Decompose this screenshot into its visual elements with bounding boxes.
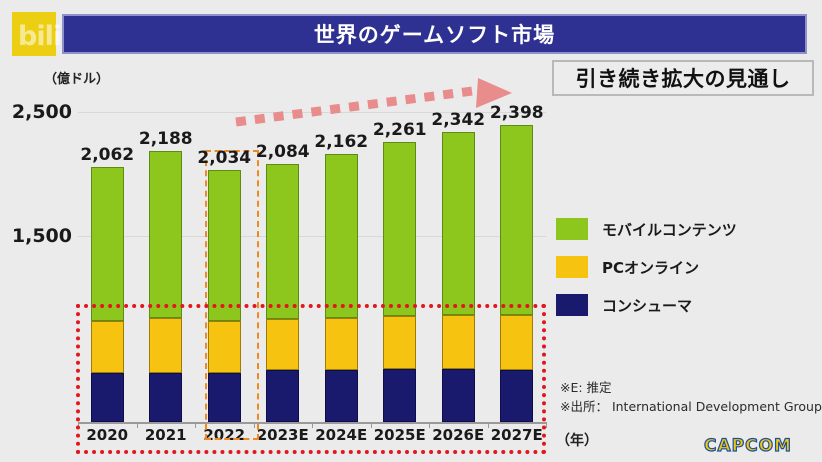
bar-segment-モバイルコンテンツ [442,132,475,316]
slide-title-bar: 世界のゲームソフト市場 [62,14,807,54]
chart-legend: モバイルコンテンツPCオンラインコンシューマ [556,210,806,324]
callout-box: 引き続き拡大の見通し [552,60,814,96]
legend-item-consumer: コンシューマ [556,286,806,324]
bar-value-label: 2,188 [136,129,196,149]
capcom-logo: CAPCOM [704,436,792,456]
legend-item-pc_online: PCオンライン [556,248,806,286]
bar-value-label: 2,398 [487,103,547,123]
bar-value-label: 2,342 [428,110,488,130]
callout-text: 引き続き拡大の見通し [576,63,791,93]
legend-swatch-pc_online [556,256,588,278]
legend-label-mobile: モバイルコンテンツ [602,219,737,240]
bar-segment-モバイルコンテンツ [383,142,416,316]
bilibili-watermark-square [12,12,56,56]
legend-swatch-consumer [556,294,588,316]
x-axis-unit-label: （年） [556,430,598,450]
bar-segment-モバイルコンテンツ [149,151,182,318]
legend-swatch-mobile [556,218,588,240]
legend-item-mobile: モバイルコンテンツ [556,210,806,248]
bar-segment-モバイルコンテンツ [325,154,358,318]
bar-value-label: 2,084 [253,142,313,162]
bar-value-label: 2,261 [370,120,430,140]
footnote-2: ※出所： International Development Group [560,397,820,416]
bar-segment-モバイルコンテンツ [266,164,299,319]
bar-segment-モバイルコンテンツ [500,125,533,315]
x-axis-tick [546,422,547,428]
slide-canvas: bilibili 直播 世界のゲームソフト市場 引き続き拡大の見通し （億ドル）… [0,0,822,462]
legend-label-pc_online: PCオンライン [602,257,699,278]
bar-value-label: 2,034 [194,148,254,168]
bar-value-label: 2,062 [77,145,137,165]
y-axis-labels: 2,5001,500 [0,100,72,422]
bar-value-label: 2,162 [311,132,371,152]
bar-segment-モバイルコンテンツ [91,167,124,321]
gridline [78,236,546,237]
legend-label-consumer: コンシューマ [602,295,692,316]
footnote-1: ※E: 推定 [560,378,820,397]
page-title: 世界のゲームソフト市場 [314,19,555,49]
y-axis-tick-label: 1,500 [12,225,72,247]
highlight-box-consumer-pc [76,304,546,454]
y-axis-unit-label: （億ドル） [44,68,109,87]
footnotes: ※E: 推定※出所： International Development Gro… [560,378,820,416]
y-axis-tick-label: 2,500 [12,101,72,123]
